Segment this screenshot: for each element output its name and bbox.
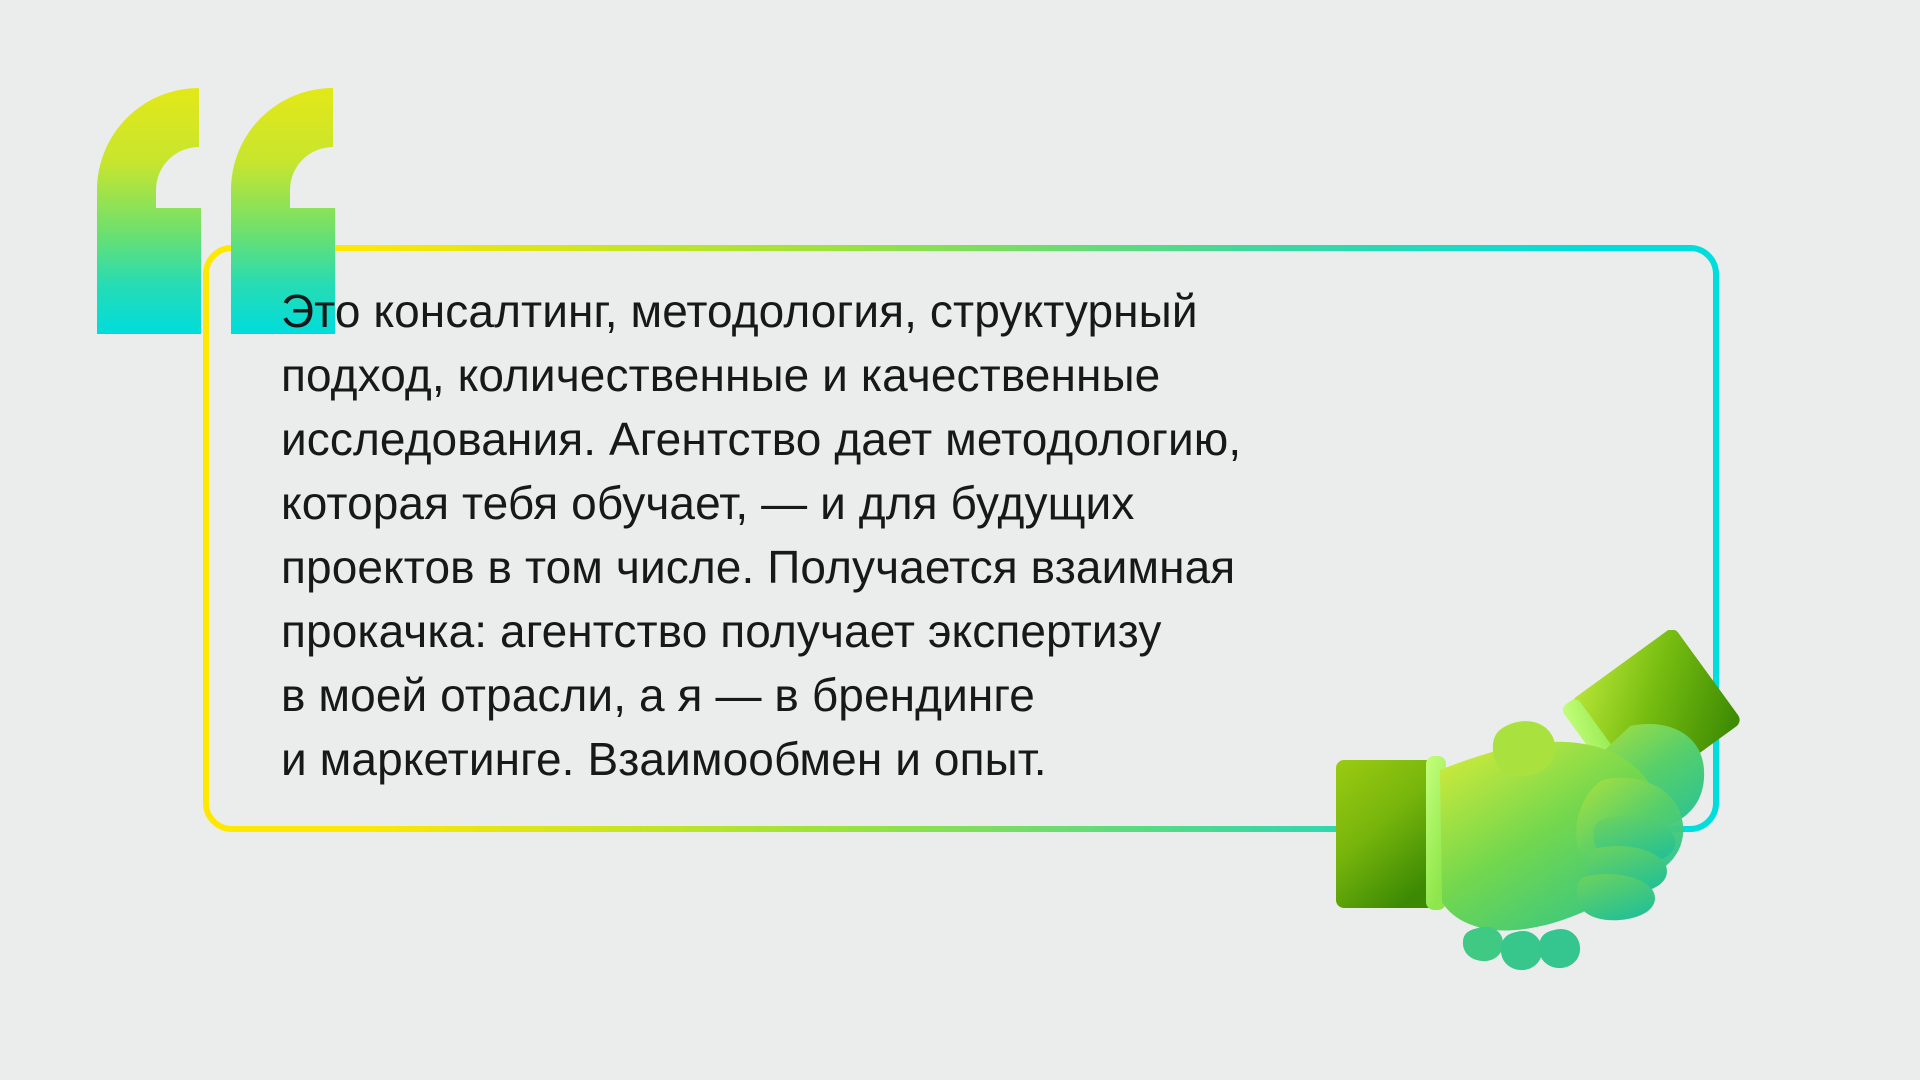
- slide-canvas: Это консалтинг, методология, структурный…: [0, 0, 1920, 1080]
- handshake-icon: [1330, 630, 1838, 1030]
